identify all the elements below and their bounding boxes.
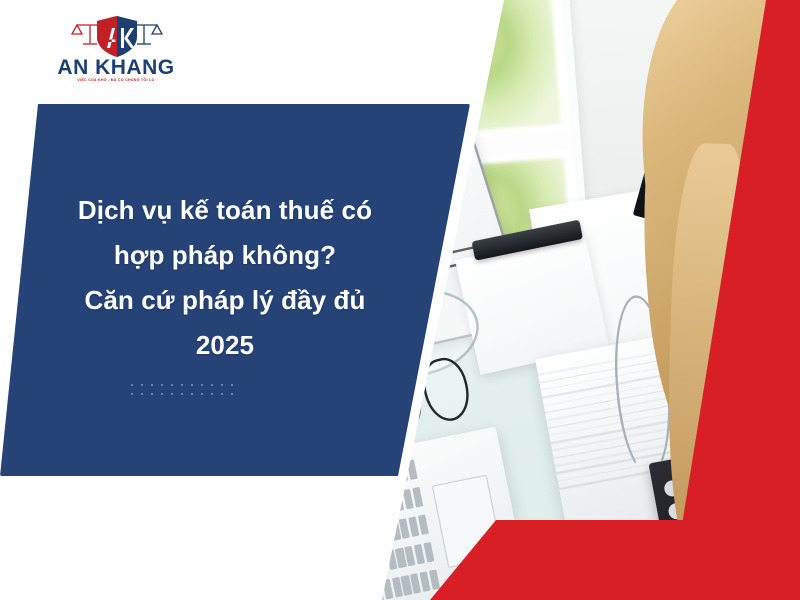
headline-line-2: hợp pháp không? bbox=[30, 233, 420, 278]
dot bbox=[131, 384, 133, 386]
dot bbox=[171, 384, 173, 386]
dot bbox=[191, 393, 193, 395]
dot bbox=[191, 384, 193, 386]
dot bbox=[221, 393, 223, 395]
laptop-trackpad bbox=[432, 474, 504, 568]
dot bbox=[181, 393, 183, 395]
key bbox=[380, 522, 391, 542]
dot-grid-decoration bbox=[131, 384, 239, 399]
key bbox=[407, 460, 418, 480]
key bbox=[352, 558, 360, 578]
logo[interactable]: AN KHANG VIỆC CỦA KHÓ - ĐÃ CÓ CHÚNG TÔI … bbox=[55, 14, 177, 86]
key bbox=[352, 528, 363, 548]
key bbox=[356, 499, 367, 519]
dot bbox=[211, 393, 213, 395]
key bbox=[375, 495, 386, 515]
dot bbox=[181, 384, 183, 386]
logo-tagline: VIỆC CỦA KHÓ - ĐÃ CÓ CHÚNG TÔI LO bbox=[55, 78, 177, 84]
dot bbox=[231, 393, 233, 395]
key bbox=[412, 487, 423, 507]
dot bbox=[141, 384, 143, 386]
dot bbox=[201, 384, 203, 386]
dot bbox=[151, 384, 153, 386]
key bbox=[358, 556, 369, 576]
key bbox=[364, 583, 375, 600]
dot bbox=[131, 393, 133, 395]
key bbox=[429, 570, 440, 590]
dot bbox=[161, 384, 163, 386]
key bbox=[367, 554, 378, 574]
dot bbox=[151, 393, 153, 395]
key bbox=[365, 497, 376, 517]
key bbox=[352, 530, 354, 550]
key bbox=[384, 493, 395, 513]
laptop-keyboard bbox=[352, 459, 447, 600]
key bbox=[377, 552, 388, 572]
key bbox=[393, 491, 404, 511]
key bbox=[418, 515, 429, 535]
key bbox=[371, 524, 382, 544]
key bbox=[352, 587, 356, 600]
logo-name: AN KHANG bbox=[55, 58, 177, 78]
key bbox=[352, 501, 358, 521]
dot bbox=[141, 393, 143, 395]
headline-line-1: Dịch vụ kế toán thuế có bbox=[30, 188, 420, 233]
dot bbox=[201, 393, 203, 395]
dot bbox=[211, 384, 213, 386]
page-title: Dịch vụ kế toán thuế có hợp pháp không? … bbox=[30, 188, 420, 368]
banner-canvas: Dịch vụ kế toán thuế có hợp pháp không? … bbox=[0, 0, 800, 600]
dot bbox=[161, 393, 163, 395]
dot bbox=[221, 384, 223, 386]
scales-of-justice-shield-icon bbox=[69, 14, 165, 58]
dot bbox=[171, 393, 173, 395]
dot bbox=[231, 384, 233, 386]
key bbox=[373, 581, 384, 600]
headline-line-4: 2025 bbox=[30, 323, 420, 368]
key bbox=[423, 542, 434, 562]
key bbox=[362, 526, 373, 546]
headline-line-3: Căn cứ pháp lý đầy đủ bbox=[30, 278, 420, 323]
key bbox=[354, 585, 365, 600]
